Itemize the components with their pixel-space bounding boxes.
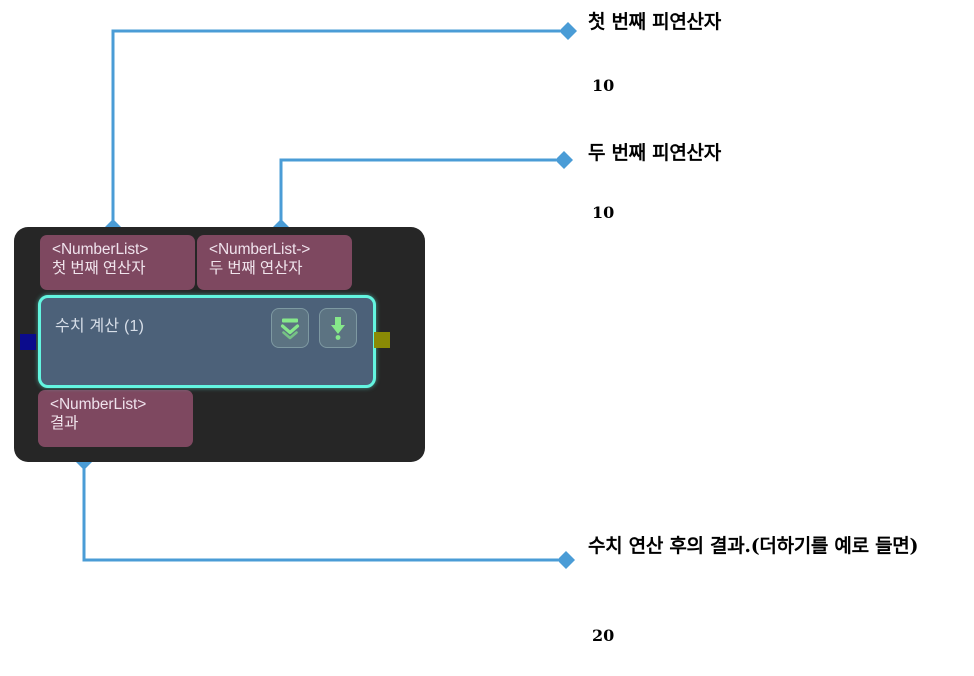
collapse-double-chevron-down-button[interactable] [271,308,309,348]
exec-in-port[interactable] [20,334,36,350]
input-pin-first-operand-type: <NumberList> [52,241,187,260]
diamond-marker [555,151,573,169]
annotation-first-operand-title: 첫 번째 피연산자 [588,10,968,35]
exec-out-port[interactable] [374,332,390,348]
input-pin-first-operand[interactable]: <NumberList> 첫 번째 연산자 [40,235,195,290]
download-arrow-down-icon [327,315,349,341]
node-body[interactable]: 수치 계산 (1) [38,295,376,388]
connector-first-operand [113,31,560,228]
connector-second-operand [281,160,556,228]
download-arrow-down-button[interactable] [319,308,357,348]
diamond-marker [557,551,575,569]
node-title: 수치 계산 (1) [55,312,144,336]
annotation-result-value: 20 [592,626,614,645]
collapse-double-chevron-down-icon [279,316,301,340]
input-pin-second-operand-label: 두 번째 연산자 [209,260,344,279]
annotation-second-operand-value: 10 [592,203,614,222]
input-pin-second-operand-type: <NumberList-> [209,241,344,260]
annotation-second-operand-title: 두 번째 피연산자 [588,141,968,166]
output-pin-result-type: <NumberList> [50,396,185,415]
input-pin-first-operand-label: 첫 번째 연산자 [52,260,187,279]
annotation-result-title: 수치 연산 후의 결과.(더하기를 예로 들면) [588,534,940,559]
diagram-canvas: <NumberList> 첫 번째 연산자 <NumberList-> 두 번째… [0,0,974,676]
input-pin-second-operand[interactable]: <NumberList-> 두 번째 연산자 [197,235,352,290]
diamond-marker [559,22,577,40]
output-pin-result-label: 결과 [50,415,185,434]
output-pin-result[interactable]: <NumberList> 결과 [38,390,193,447]
connector-result [84,460,558,560]
node-button-row [271,308,357,348]
numeric-calculation-node[interactable]: <NumberList> 첫 번째 연산자 <NumberList-> 두 번째… [14,227,425,462]
annotation-first-operand-value: 10 [592,76,614,95]
